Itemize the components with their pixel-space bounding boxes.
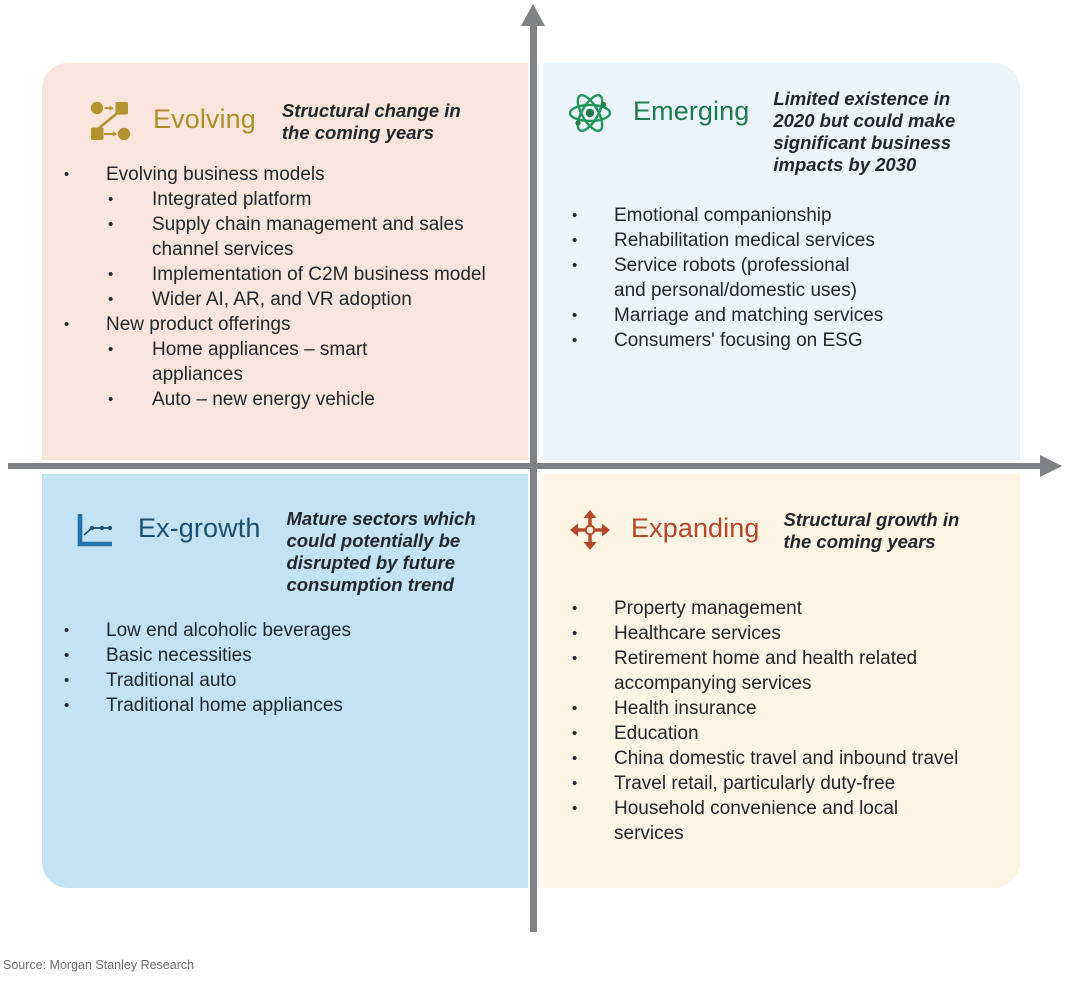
- list-item: • Consumers' focusing on ESG: [570, 328, 1000, 353]
- quadrant-description-ex-growth: Mature sectors which could potentially b…: [286, 508, 482, 596]
- quadrant-description-emerging: Limited existence in 2020 but could make…: [773, 88, 983, 176]
- bullet-glyph: •: [570, 228, 614, 253]
- quadrant-title-evolving: Evolving: [153, 96, 256, 142]
- list-item: • Evolving business models: [62, 162, 512, 187]
- list-item: • Basic necessities: [62, 643, 502, 668]
- list-item: • Emotional companionship: [570, 203, 1000, 228]
- list-item-text: Emotional companionship: [614, 203, 1000, 228]
- list-item: • Travel retail, particularly duty-free: [570, 771, 1020, 796]
- list-item-text: Home appliances – smart appliances: [152, 337, 372, 387]
- bullet-glyph: •: [62, 387, 152, 412]
- quadrant-header-emerging: Emerging Limited existence in 2020 but c…: [567, 88, 983, 176]
- bullet-glyph: •: [62, 693, 106, 718]
- source-note: Source: Morgan Stanley Research: [3, 958, 194, 972]
- bullet-glyph: •: [570, 646, 614, 671]
- list-item-text: Traditional home appliances: [106, 693, 502, 718]
- bullet-glyph: •: [62, 187, 152, 212]
- bullet-glyph: •: [62, 337, 152, 362]
- quadrant-matrix-figure: Evolving Structural change in the coming…: [0, 0, 1080, 940]
- bullet-list-expanding: • Property management • Healthcare servi…: [570, 596, 1020, 846]
- quadrant-title-ex-growth: Ex-growth: [138, 505, 260, 551]
- list-item: • Integrated platform: [62, 187, 512, 212]
- bullet-glyph: •: [570, 771, 614, 796]
- bullet-glyph: •: [570, 596, 614, 621]
- list-item: • Household convenience and local servic…: [570, 796, 1020, 846]
- list-item-text: Property management: [614, 596, 1020, 621]
- quadrant-header-ex-growth: Ex-growth Mature sectors which could pot…: [72, 505, 482, 596]
- list-item-text: Integrated platform: [152, 187, 512, 212]
- bullet-glyph: •: [62, 287, 152, 312]
- bullet-glyph: •: [570, 796, 614, 821]
- list-item: • Traditional auto: [62, 668, 502, 693]
- bullet-glyph: •: [570, 746, 614, 771]
- list-item: • Retirement home and health related acc…: [570, 646, 1020, 696]
- network-nodes-icon: [88, 98, 134, 144]
- bullet-glyph: •: [570, 328, 614, 353]
- list-item-text: Rehabilitation medical services: [614, 228, 1000, 253]
- flat-line-chart-icon: [72, 507, 118, 553]
- list-item: • Marriage and matching services: [570, 303, 1000, 328]
- horizontal-axis-arrow-icon: [1040, 455, 1062, 477]
- list-item: • Property management: [570, 596, 1020, 621]
- quadrant-header-evolving: Evolving Structural change in the coming…: [88, 96, 474, 144]
- list-item: • Traditional home appliances: [62, 693, 502, 718]
- list-item-text: Marriage and matching services: [614, 303, 1000, 328]
- bullet-glyph: •: [570, 253, 614, 278]
- list-item-text: Service robots (professional and persona…: [614, 253, 874, 303]
- list-item: • Education: [570, 721, 1020, 746]
- list-item-text: Consumers' focusing on ESG: [614, 328, 1000, 353]
- bullet-glyph: •: [62, 262, 152, 287]
- list-item: • Implementation of C2M business model: [62, 262, 512, 287]
- list-item: • China domestic travel and inbound trav…: [570, 746, 1020, 771]
- list-item-text: Travel retail, particularly duty-free: [614, 771, 1020, 796]
- quadrant-description-evolving: Structural change in the coming years: [282, 100, 474, 144]
- list-item-text: Low end alcoholic beverages: [106, 618, 502, 643]
- list-item-text: Wider AI, AR, and VR adoption: [152, 287, 512, 312]
- quadrant-header-expanding: Expanding Structural growth in the comin…: [567, 505, 980, 553]
- list-item-text: Health insurance: [614, 696, 1020, 721]
- list-item: • Home appliances – smart appliances: [62, 337, 512, 387]
- atom-icon: [567, 90, 613, 136]
- list-item-text: Healthcare services: [614, 621, 1020, 646]
- list-item-text: Traditional auto: [106, 668, 502, 693]
- vertical-axis-line: [530, 22, 537, 932]
- list-item: • New product offerings: [62, 312, 512, 337]
- list-item-text: Auto – new energy vehicle: [152, 387, 512, 412]
- bullet-glyph: •: [570, 303, 614, 328]
- bullet-glyph: •: [570, 721, 614, 746]
- bullet-glyph: •: [62, 312, 106, 337]
- list-item: • Low end alcoholic beverages: [62, 618, 502, 643]
- list-item-text: Supply chain management and sales channe…: [152, 212, 512, 262]
- bullet-glyph: •: [570, 621, 614, 646]
- list-item: • Wider AI, AR, and VR adoption: [62, 287, 512, 312]
- bullet-glyph: •: [570, 696, 614, 721]
- quadrant-title-expanding: Expanding: [631, 505, 760, 551]
- list-item-text: Evolving business models: [106, 162, 512, 187]
- bullet-glyph: •: [62, 668, 106, 693]
- vertical-axis-arrow-icon: [521, 4, 545, 26]
- bullet-list-evolving: • Evolving business models • Integrated …: [62, 162, 512, 412]
- bullet-glyph: •: [62, 212, 152, 237]
- list-item: • Healthcare services: [570, 621, 1020, 646]
- list-item: • Service robots (professional and perso…: [570, 253, 1000, 303]
- four-way-arrow-icon: [567, 507, 613, 553]
- bullet-glyph: •: [62, 618, 106, 643]
- list-item-text: Retirement home and health related accom…: [614, 646, 944, 696]
- bullet-glyph: •: [62, 162, 106, 187]
- horizontal-axis-line: [8, 463, 1043, 469]
- list-item-text: Basic necessities: [106, 643, 502, 668]
- list-item: • Rehabilitation medical services: [570, 228, 1000, 253]
- list-item-text: Household convenience and local services: [614, 796, 914, 846]
- quadrant-title-emerging: Emerging: [633, 88, 749, 134]
- list-item: • Auto – new energy vehicle: [62, 387, 512, 412]
- list-item-text: Implementation of C2M business model: [152, 262, 512, 287]
- list-item: • Supply chain management and sales chan…: [62, 212, 512, 262]
- list-item-text: New product offerings: [106, 312, 512, 337]
- bullet-list-emerging: • Emotional companionship • Rehabilitati…: [570, 203, 1000, 353]
- list-item: • Health insurance: [570, 696, 1020, 721]
- quadrant-description-expanding: Structural growth in the coming years: [784, 509, 980, 553]
- bullet-glyph: •: [570, 203, 614, 228]
- list-item-text: Education: [614, 721, 1020, 746]
- list-item-text: China domestic travel and inbound travel: [614, 746, 1020, 771]
- bullet-list-ex-growth: • Low end alcoholic beverages • Basic ne…: [62, 618, 502, 718]
- bullet-glyph: •: [62, 643, 106, 668]
